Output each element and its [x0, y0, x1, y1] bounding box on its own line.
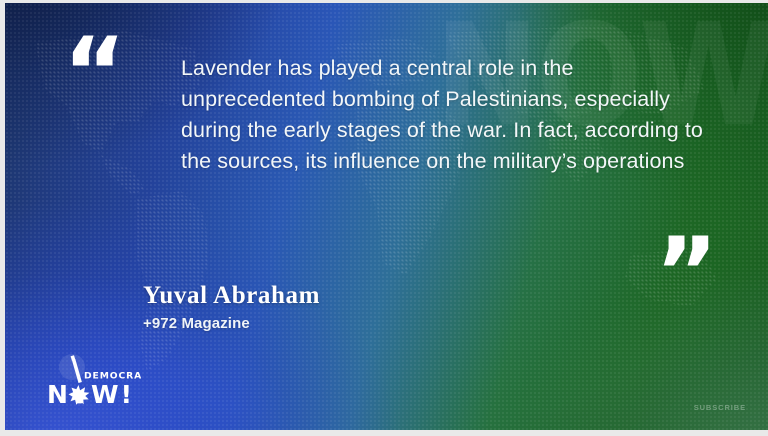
quote-card: NOW “ Lavender has played a central role… — [0, 0, 768, 436]
author-source: +972 Magazine — [143, 315, 320, 332]
opening-quote-icon: “ — [63, 25, 125, 121]
quote-card-artwork: NOW “ Lavender has played a central role… — [5, 3, 768, 430]
closing-quote-icon: ” — [655, 225, 717, 321]
quote-text: Lavender has played a central role in th… — [181, 53, 711, 177]
svg-text:W!: W! — [91, 380, 134, 407]
attribution: Yuval Abraham +972 Magazine — [143, 281, 320, 332]
democracy-now-logo[interactable]: DEMOCRACY N W! — [45, 351, 141, 407]
svg-text:N: N — [47, 380, 70, 407]
author-name: Yuval Abraham — [143, 281, 320, 311]
subscribe-label[interactable]: SUBSCRIBE — [694, 403, 746, 412]
